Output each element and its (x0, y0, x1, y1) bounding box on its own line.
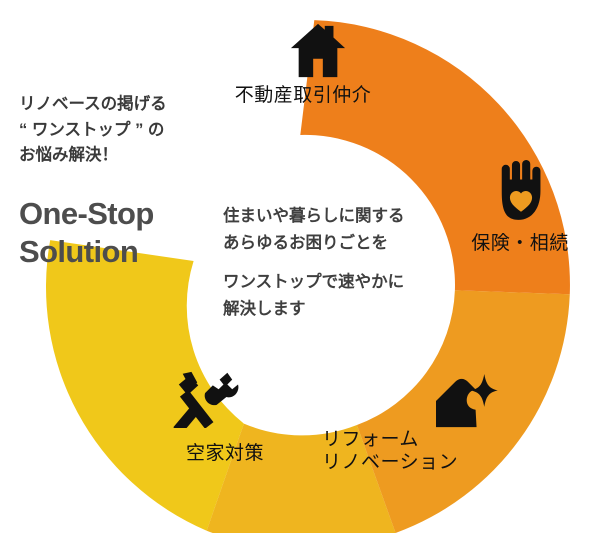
house-sparkle-icon (430, 374, 498, 430)
lede-text: リノベースの掲げる “ ワンストップ ” の お悩み解決！ (19, 92, 224, 169)
page-title: One-Stop Solution (19, 195, 224, 271)
hand-heart-icon (495, 160, 547, 222)
center-copy-block: 住まいや暮らしに関する あらゆるお困りごとを ワンストップで速やかに 解決します (223, 203, 455, 323)
segment-label-reform-renovation: リフォーム リノベーション (322, 428, 512, 474)
one-stop-solution-diagram: 不動産取引仲介 保険・相続 リフォーム リノベーション 空家対策 リノベースの掲… (0, 0, 600, 533)
house-icon (287, 22, 349, 80)
center-paragraph-2: ワンストップで速やかに 解決します (223, 269, 455, 322)
segment-label-vacant-house: 空家対策 (140, 442, 310, 465)
hammer-wrench-icon (173, 370, 239, 428)
segment-label-insurance-inheritance: 保険・相続 (440, 232, 600, 255)
center-paragraph-1: 住まいや暮らしに関する あらゆるお困りごとを (223, 203, 455, 256)
left-copy-block: リノベースの掲げる “ ワンストップ ” の お悩み解決！ One-Stop S… (19, 92, 224, 270)
